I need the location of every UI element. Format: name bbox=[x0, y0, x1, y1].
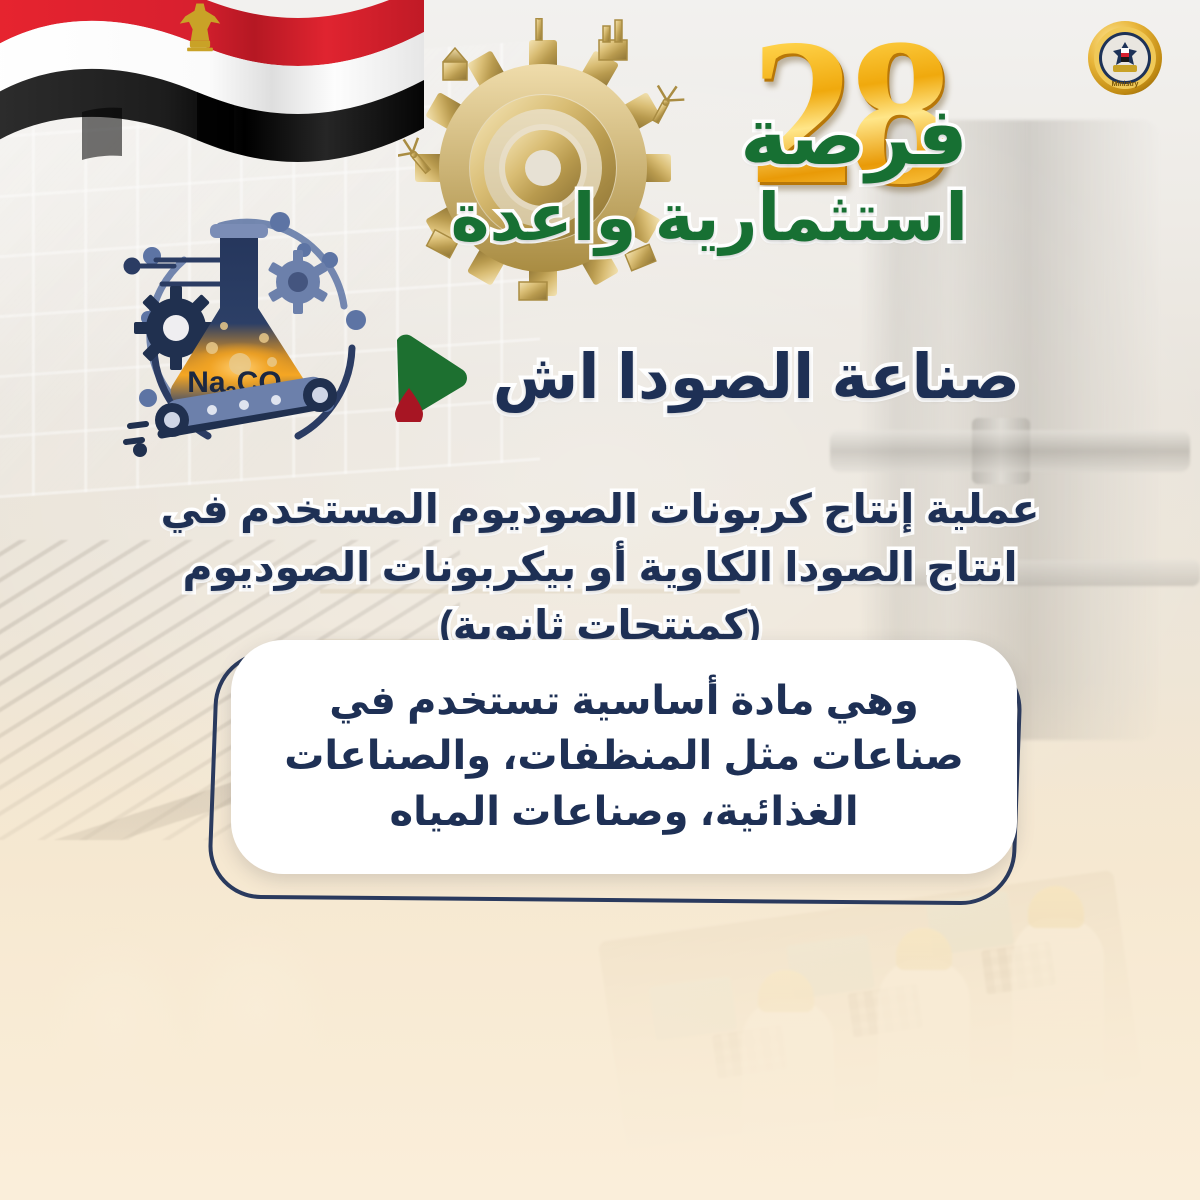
poster-root: Ministry bbox=[0, 0, 1200, 1200]
soda-ash-logo-icon: Na2CO3 bbox=[112, 198, 396, 466]
info-card: وهي مادة أساسية تستخدم في صناعات مثل الم… bbox=[205, 636, 1025, 898]
section-title-row: صناعة الصودا اش bbox=[379, 330, 1020, 422]
headline: فرصة استثمارية واعدة bbox=[428, 96, 968, 251]
headline-line-2: استثمارية واعدة bbox=[428, 184, 968, 251]
description-text: عملية إنتاج كربونات الصوديوم المستخدم في… bbox=[150, 480, 1050, 655]
info-card-body: وهي مادة أساسية تستخدم في صناعات مثل الم… bbox=[231, 640, 1017, 874]
egypt-flag-icon bbox=[0, 0, 442, 216]
background-pipe-horizontal bbox=[830, 430, 1190, 472]
play-triangle-icon bbox=[379, 330, 475, 422]
headline-line-1: فرصة bbox=[428, 96, 968, 178]
page-title: صناعة الصودا اش bbox=[493, 340, 1020, 413]
ministry-seal-icon: Ministry bbox=[1085, 18, 1165, 98]
info-card-text: وهي مادة أساسية تستخدم في صناعات مثل الم… bbox=[231, 674, 1017, 840]
svg-text:Ministry: Ministry bbox=[1112, 81, 1139, 88]
